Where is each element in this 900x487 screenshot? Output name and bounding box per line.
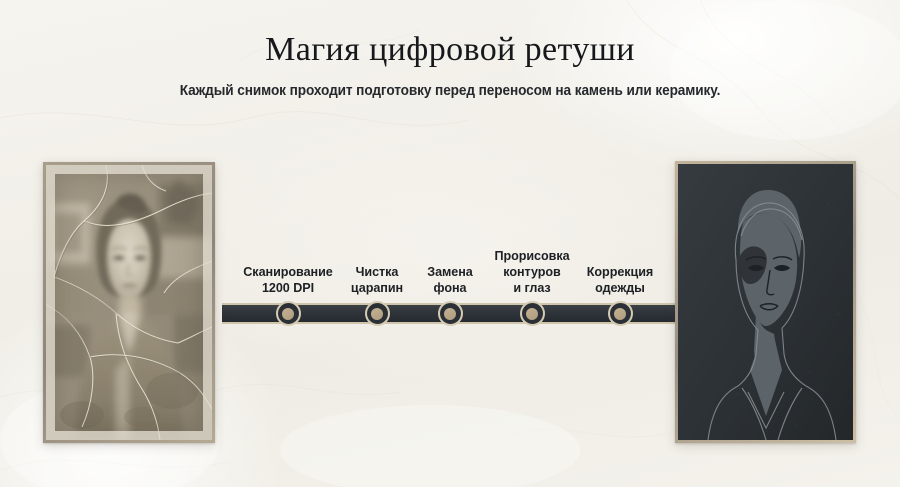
- step-label-clothes: Коррекция одежды: [587, 265, 653, 297]
- before-photo-frame[interactable]: [43, 162, 215, 443]
- engraved-stone-portrait: [678, 164, 853, 440]
- step-label-bg: Замена фона: [427, 265, 473, 297]
- step-label-scan-line-2: 1200 DPI: [243, 281, 332, 297]
- after-photo-inner: [678, 164, 853, 440]
- step-label-scan: Сканирование 1200 DPI: [243, 265, 332, 297]
- damaged-vintage-portrait: [46, 165, 212, 440]
- timeline-node-clothes[interactable]: [608, 301, 633, 326]
- timeline-node-contours[interactable]: [520, 301, 545, 326]
- step-label-scratch: Чистка царапин: [351, 265, 403, 297]
- step-label-scratch-line-1: Чистка: [351, 265, 403, 281]
- step-label-bg-line-2: фона: [427, 281, 473, 297]
- step-label-contours: Прорисовка контуров и глаз: [494, 249, 569, 297]
- timeline-node-scratch[interactable]: [365, 301, 390, 326]
- step-label-clothes-line-2: одежды: [587, 281, 653, 297]
- slide-header: Магия цифровой ретуши Каждый снимок прох…: [0, 30, 900, 99]
- step-label-bg-line-1: Замена: [427, 265, 473, 281]
- retouch-process-timeline: [222, 303, 678, 324]
- step-label-scan-line-1: Сканирование: [243, 265, 332, 281]
- page-title: Магия цифровой ретуши: [0, 30, 900, 69]
- timeline-node-scan[interactable]: [276, 301, 301, 326]
- step-label-clothes-line-1: Коррекция: [587, 265, 653, 281]
- slide-canvas: Магия цифровой ретуши Каждый снимок прох…: [0, 0, 900, 487]
- before-photo-inner: [46, 165, 212, 440]
- step-label-scratch-line-2: царапин: [351, 281, 403, 297]
- after-photo-frame[interactable]: [675, 161, 856, 443]
- step-label-contours-line-1: Прорисовка: [494, 249, 569, 265]
- page-subtitle: Каждый снимок проходит подготовку перед …: [27, 83, 873, 99]
- step-label-contours-line-2: контуров: [494, 265, 569, 281]
- photo-matte: [46, 165, 212, 440]
- step-label-contours-line-3: и глаз: [494, 281, 569, 297]
- timeline-node-bg[interactable]: [438, 301, 463, 326]
